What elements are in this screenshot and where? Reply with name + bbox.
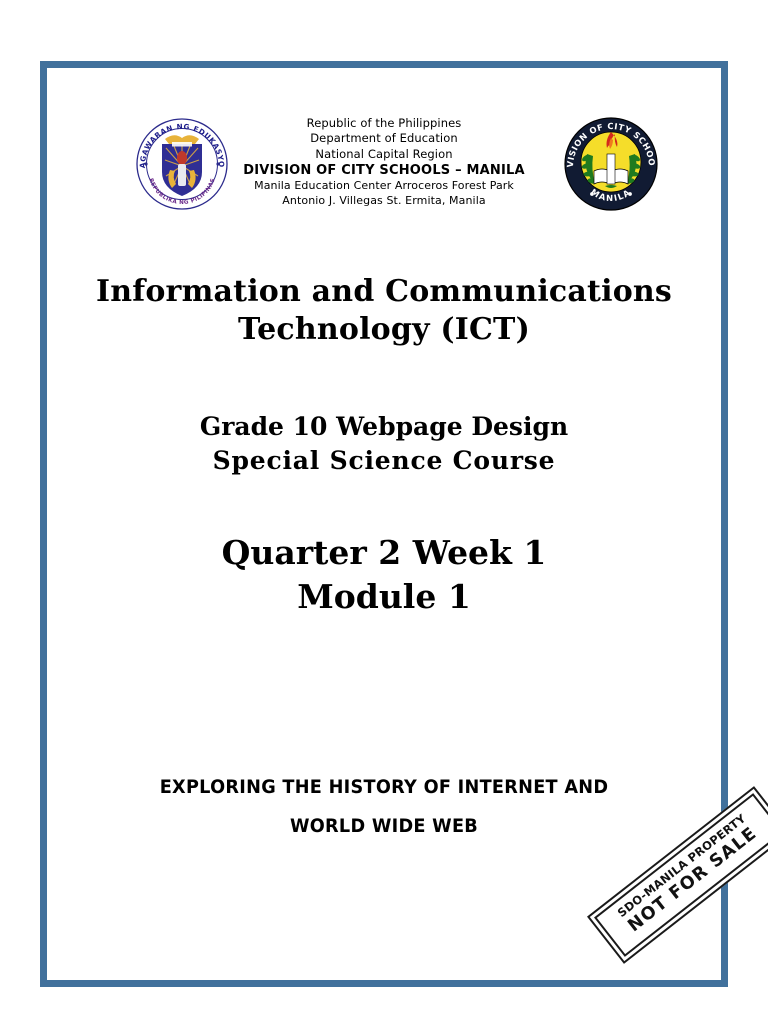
subject-title-line1: Information and Communications	[65, 273, 703, 311]
course-title-line1: Grade 10 Webpage Design	[47, 410, 721, 445]
page-content-area: KAGAWARAN NG EDUKASYON REPUBLIKA NG PILI…	[47, 68, 721, 980]
course-title: Grade 10 Webpage Design Special Science …	[47, 410, 721, 479]
title-block: Information and Communications Technolog…	[47, 273, 721, 620]
agency-line-division: DIVISION OF CITY SCHOOLS – MANILA	[47, 162, 721, 179]
unit-quarter-week: Quarter 2 Week 1	[47, 531, 721, 576]
subject-title: Information and Communications Technolog…	[47, 273, 721, 350]
lesson-title-line1: EXPLORING THE HISTORY OF INTERNET AND	[71, 768, 698, 807]
letterhead: KAGAWARAN NG EDUKASYON REPUBLIKA NG PILI…	[47, 114, 721, 224]
agency-line-address2: Antonio J. Villegas St. Ermita, Manila	[47, 194, 721, 209]
subject-title-line2: Technology (ICT)	[65, 311, 703, 349]
agency-line-republic: Republic of the Philippines	[47, 116, 721, 131]
agency-line-address1: Manila Education Center Arroceros Forest…	[47, 179, 721, 194]
lesson-title: EXPLORING THE HISTORY OF INTERNET AND WO…	[71, 768, 698, 846]
agency-line-department: Department of Education	[47, 131, 721, 146]
course-title-line2: Special Science Course	[47, 444, 721, 479]
unit-title: Quarter 2 Week 1 Module 1	[47, 531, 721, 620]
lesson-title-line2: WORLD WIDE WEB	[71, 807, 698, 846]
agency-line-region: National Capital Region	[47, 147, 721, 162]
agency-address-block: Republic of the Philippines Department o…	[47, 116, 721, 208]
unit-module: Module 1	[47, 575, 721, 620]
